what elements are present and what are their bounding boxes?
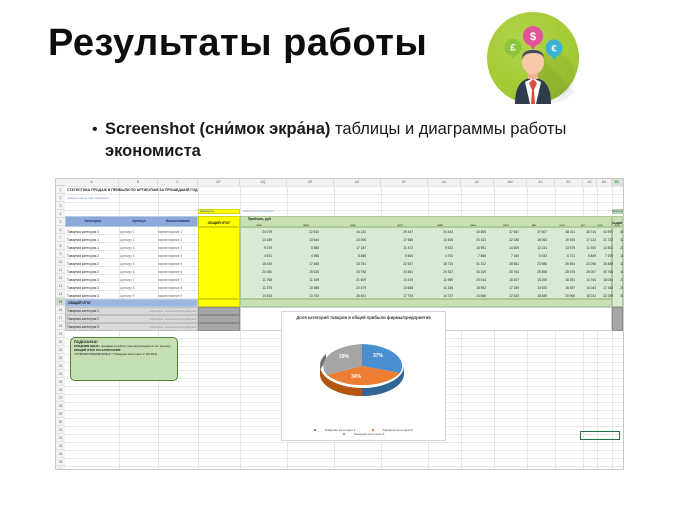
bullet-tail-bold: экономиста: [105, 142, 201, 160]
hint-formula: =СУММЕСЛИ($A$5:$A$14;"=Товарная категори…: [74, 352, 174, 356]
row-header-19[interactable]: 19: [56, 330, 65, 338]
cell-article-6[interactable]: Артикул 6: [120, 269, 154, 277]
column-header-au[interactable]: AU: [428, 179, 461, 186]
cell-value-r7-c1[interactable]: 11 768: [238, 277, 272, 285]
chart-title: Доля категорий товаров в общей прибыли ф…: [282, 315, 445, 320]
cell-name-3[interactable]: наименование 3: [158, 245, 196, 253]
row-header-4[interactable]: 4: [56, 210, 65, 218]
row-header-32[interactable]: 32: [56, 434, 65, 442]
column-header-as[interactable]: AS: [334, 179, 381, 186]
row-header-13[interactable]: 13: [56, 282, 65, 290]
row-header-29[interactable]: 29: [56, 410, 65, 418]
cell-value-r4-c12[interactable]: 10 760: [596, 253, 624, 261]
cell-value-r5-c2[interactable]: 17 465: [285, 261, 319, 269]
cell-value-r5-c6[interactable]: 31 312: [452, 261, 486, 269]
row-header-15[interactable]: 15: [56, 298, 65, 306]
row-header-23[interactable]: 23: [56, 362, 65, 370]
cell-value-r8-c2[interactable]: 10 588: [285, 285, 319, 293]
pie-label-2: 34%: [351, 374, 362, 380]
cell-name-9[interactable]: наименование 9: [158, 293, 196, 301]
cell-name-7[interactable]: наименование 7: [158, 277, 196, 285]
row-header-30[interactable]: 30: [56, 418, 65, 426]
cell-value-r9-c1[interactable]: 14 515: [238, 293, 272, 301]
note-formula-label-right: формула: [612, 208, 623, 216]
total-column-body: [198, 227, 240, 299]
row-header-8[interactable]: 8: [56, 242, 65, 250]
cell-value-r8-c12[interactable]: 25 664: [596, 285, 624, 293]
gridline-h: [65, 210, 623, 211]
cell-value-r2-c6[interactable]: 24 102: [452, 237, 486, 245]
cell-value-r7-c6[interactable]: 20 014: [452, 277, 486, 285]
header-category: Категория: [67, 218, 119, 226]
pie-chart[interactable]: Доля категорий товаров в общей прибыли ф…: [281, 311, 446, 441]
cell-name-8[interactable]: наименование 8: [158, 285, 196, 293]
cell-value-r7-c2[interactable]: 11 169: [285, 277, 319, 285]
row-header-3[interactable]: 3: [56, 202, 65, 210]
cell-category-8[interactable]: Товарная категория 3: [67, 285, 117, 293]
cell-category-4[interactable]: Товарная категория 2: [67, 253, 117, 261]
svg-text:£: £: [510, 43, 516, 54]
cell-value-r9-c3[interactable]: 26 601: [332, 293, 366, 301]
summary-hint-2: подсказка: считается формулой: [122, 316, 196, 324]
summary-label-2[interactable]: Товарная категория 2: [67, 316, 119, 324]
cell-value-r4-c5[interactable]: 4 792: [419, 253, 453, 261]
row-header-35[interactable]: 35: [56, 458, 65, 466]
row-header-17[interactable]: 17: [56, 314, 65, 322]
row-header-34[interactable]: 34: [56, 450, 65, 458]
bullet-marker: •: [92, 119, 98, 141]
cell-value-r2-c3[interactable]: 24 005: [332, 237, 366, 245]
cell-value-r8-c6[interactable]: 18 962: [452, 285, 486, 293]
cell-value-r8-c5[interactable]: 11 346: [419, 285, 453, 293]
row-header-6[interactable]: 6: [56, 226, 65, 234]
cell-name-1[interactable]: наименование 1: [158, 229, 196, 237]
cell-value-r5-c5[interactable]: 18 715: [419, 261, 453, 269]
column-header-c[interactable]: C: [158, 179, 198, 186]
cell-value-r1-c3[interactable]: 44 120: [332, 229, 366, 237]
row-header-26[interactable]: 26: [56, 386, 65, 394]
summary-label-3[interactable]: Товарная категория 3: [67, 324, 119, 332]
cell-article-1[interactable]: Артикул 1: [120, 229, 154, 237]
legend-swatch-3: [343, 433, 346, 436]
column-header-a[interactable]: A: [65, 179, 119, 186]
cell-value-r2-c4[interactable]: 17 555: [379, 237, 413, 245]
cell-value-r8-c1[interactable]: 11 375: [238, 285, 272, 293]
cell-value-r4-c4[interactable]: 5 664: [379, 253, 413, 261]
cell-value-r6-c3[interactable]: 34 796: [332, 269, 366, 277]
pie-label-3: 29%: [339, 354, 350, 360]
row-header-20[interactable]: 20: [56, 338, 65, 346]
cell-value-r2-c2[interactable]: 13 644: [285, 237, 319, 245]
sheet-subtitle: комментарии под таблицей: [67, 195, 267, 203]
column-header-aw[interactable]: AW: [494, 179, 527, 186]
summary-row-3-value: [198, 323, 240, 331]
column-header-b[interactable]: B: [119, 179, 158, 186]
cell-value-r1-c2[interactable]: 22 810: [285, 229, 319, 237]
cell-value-r7-c12[interactable]: 27 360: [596, 277, 624, 285]
cell-value-r4-c6[interactable]: 7 866: [452, 253, 486, 261]
active-cell-selection[interactable]: [580, 431, 620, 440]
row-header-22[interactable]: 22: [56, 354, 65, 362]
row-header-27[interactable]: 27: [56, 394, 65, 402]
cell-value-r3-c2[interactable]: 8 886: [285, 245, 319, 253]
cell-category-1[interactable]: Товарная категория 1: [67, 229, 117, 237]
column-header-at[interactable]: AT: [381, 179, 428, 186]
cell-name-2[interactable]: наименование 2: [158, 237, 196, 245]
cell-value-r8-c4[interactable]: 13 668: [379, 285, 413, 293]
bullet-paragraph: • Screenshot (сни́мок экра́на) таблицы и…: [92, 118, 622, 163]
sheet-title: СТАТИСТИКА ПРОДАЖ И ПРИБЫЛИ ПО АРТИКУЛАМ…: [67, 187, 387, 195]
cell-value-r6-c12[interactable]: 44 650: [596, 269, 624, 277]
column-header-ap[interactable]: AP: [198, 179, 240, 186]
cell-category-3[interactable]: Товарная категория 1: [67, 245, 117, 253]
cell-article-8[interactable]: Артикул 8: [120, 285, 154, 293]
row-header-10[interactable]: 10: [56, 258, 65, 266]
header-name: Наименование: [158, 218, 198, 226]
cell-value-r8-c3[interactable]: 20 479: [332, 285, 366, 293]
cell-value-r5-c12[interactable]: 42 829: [596, 261, 624, 269]
cell-category-2[interactable]: Товарная категория 1: [67, 237, 117, 245]
page-title: Результаты работы: [48, 22, 427, 65]
legend-swatch-1: [314, 429, 317, 432]
spreadsheet-screenshot: ABCAPAQARASATAUAVAWAXAYAZBABBBC 12345678…: [55, 178, 624, 470]
row-header-25[interactable]: 25: [56, 378, 65, 386]
cell-value-r3-c5[interactable]: 9 522: [419, 245, 453, 253]
gridline-h: [65, 450, 623, 451]
cell-value-r2-c12[interactable]: 32 968: [596, 237, 624, 245]
gridline-h: [65, 442, 623, 443]
row-header-11[interactable]: 11: [56, 266, 65, 274]
cell-value-r6-c5[interactable]: 20 367: [419, 269, 453, 277]
cell-value-r3-c6[interactable]: 15 951: [452, 245, 486, 253]
cell-value-r5-c3[interactable]: 33 781: [332, 261, 366, 269]
gridline-h: [65, 466, 623, 467]
row-header-24[interactable]: 24: [56, 370, 65, 378]
cell-value-r1-c4[interactable]: 29 447: [379, 229, 413, 237]
cell-value-r4-c3[interactable]: 8 486: [332, 253, 366, 261]
cell-value-r6-c1[interactable]: 20 080: [238, 269, 272, 277]
cell-value-r3-c4[interactable]: 11 472: [379, 245, 413, 253]
row-number-gutter: 1234567891011121314151617181920212223242…: [56, 186, 65, 469]
cell-value-r3-c3[interactable]: 17 187: [332, 245, 366, 253]
cell-value-r2-c5[interactable]: 14 406: [419, 237, 453, 245]
note-formula-label: формула: [200, 208, 240, 216]
row-header-31[interactable]: 31: [56, 426, 65, 434]
row-header-14[interactable]: 14: [56, 290, 65, 298]
summary-row-2-value: [198, 315, 240, 323]
hint-callout: ПОДСКАЗКА! СРЕДНЯЯ ЦЕНА: продажи в рубля…: [70, 337, 178, 381]
row-header-1[interactable]: 1: [56, 186, 65, 194]
cell-value-r6-c6[interactable]: 34 109: [452, 269, 486, 277]
cell-value-r1-c6[interactable]: 40 895: [452, 229, 486, 237]
cell-value-r1-c12[interactable]: 59 907: [596, 229, 624, 237]
cell-article-5[interactable]: Артикул 5: [120, 261, 154, 269]
cell-value-r7-c3[interactable]: 21 609: [332, 277, 366, 285]
cell-value-r9-c5[interactable]: 14 737: [419, 293, 453, 301]
cell-article-7[interactable]: Артикул 7: [120, 277, 154, 285]
summary-right-col: [612, 307, 623, 331]
svg-text:$: $: [530, 31, 536, 43]
cell-value-r3-c12[interactable]: 21 791: [596, 245, 624, 253]
cell-value-r7-c4[interactable]: 14 419: [379, 277, 413, 285]
column-header-ar[interactable]: AR: [287, 179, 334, 186]
column-header-ay[interactable]: AY: [555, 179, 583, 186]
row-header-5[interactable]: 5: [56, 218, 65, 226]
header-total: ОБЩИЙ ИТОГ: [199, 220, 239, 228]
header-article: Артикул: [120, 218, 158, 226]
pie-label-1: 37%: [373, 353, 384, 359]
cell-value-r1-c1[interactable]: 24 079: [238, 229, 272, 237]
grand-total-label: ОБЩИЙ ИТОГ: [68, 300, 148, 308]
slide-root: Результаты работы $ £ €: [0, 0, 677, 508]
cell-value-r5-c4[interactable]: 22 547: [379, 261, 413, 269]
note-manual-label: заполняется вручную: [243, 208, 333, 216]
column-header-av[interactable]: AV: [461, 179, 494, 186]
cell-value-r6-c4[interactable]: 24 561: [379, 269, 413, 277]
cell-category-6[interactable]: Товарная категория 2: [67, 269, 117, 277]
row-header-36[interactable]: 36: [56, 466, 65, 470]
cell-category-5[interactable]: Товарная категория 2: [67, 261, 117, 269]
pie-graphic: 37% 34% 29%: [314, 332, 410, 402]
svg-text:€: €: [551, 44, 557, 55]
cell-article-3[interactable]: Артикул 3: [120, 245, 154, 253]
cell-value-r7-c5[interactable]: 11 969: [419, 277, 453, 285]
legend-item-3: Товарная категория 3: [339, 432, 389, 436]
summary-hint-3: подсказка: считается формулой: [122, 324, 196, 332]
cell-value-r1-c5[interactable]: 24 443: [419, 229, 453, 237]
cell-value-r9-c4[interactable]: 17 754: [379, 293, 413, 301]
column-header-bc[interactable]: BC: [612, 179, 623, 186]
cell-value-r9-c6[interactable]: 24 656: [452, 293, 486, 301]
row-header-16[interactable]: 16: [56, 306, 65, 314]
total-column-grand: [198, 299, 240, 307]
cell-category-7[interactable]: Товарная категория 3: [67, 277, 117, 285]
summary-row-1-value: [198, 307, 240, 315]
row-header-2[interactable]: 2: [56, 194, 65, 202]
gridline-h: [65, 458, 623, 459]
economist-avatar-icon: $ £ €: [487, 12, 579, 104]
legend-label-3: Товарная категория 3: [353, 432, 384, 436]
column-header-ba[interactable]: BA: [597, 179, 612, 186]
cell-name-4[interactable]: наименование 4: [158, 253, 196, 261]
row-header-28[interactable]: 28: [56, 402, 65, 410]
row-header-33[interactable]: 33: [56, 442, 65, 450]
column-header-aq[interactable]: AQ: [240, 179, 287, 186]
cell-value-r5-c1[interactable]: 18 435: [238, 261, 272, 269]
row-header-21[interactable]: 21: [56, 346, 65, 354]
cell-article-4[interactable]: Артикул 4: [120, 253, 154, 261]
bullet-mid-text: таблицы и диаграммы работы: [330, 120, 566, 138]
column-header-az[interactable]: AZ: [583, 179, 597, 186]
cell-value-r9-c2[interactable]: 13 753: [285, 293, 319, 301]
row-header-12[interactable]: 12: [56, 274, 65, 282]
cell-name-5[interactable]: наименование 5: [158, 261, 196, 269]
bullet-lead-bold: Screenshot (сни́мок экра́на): [105, 120, 330, 138]
cell-value-r4-c2[interactable]: 4 988: [285, 253, 319, 261]
cell-value-r6-c2[interactable]: 19 025: [285, 269, 319, 277]
row-header-7[interactable]: 7: [56, 234, 65, 242]
column-header-ax[interactable]: AX: [527, 179, 555, 186]
cell-name-6[interactable]: наименование 6: [158, 269, 196, 277]
cell-value-r4-c1[interactable]: 4 631: [238, 253, 272, 261]
cell-article-2[interactable]: Артикул 2: [120, 237, 154, 245]
chart-legend: Товарная категория 1Товарная категория 2…: [282, 428, 445, 436]
cell-value-r9-c12[interactable]: 33 705: [596, 293, 624, 301]
row-header-9[interactable]: 9: [56, 250, 65, 258]
cell-value-r2-c1[interactable]: 14 189: [238, 237, 272, 245]
cell-value-r3-c1[interactable]: 9 379: [238, 245, 272, 253]
summary-label-1[interactable]: Товарная категория 1: [67, 308, 119, 316]
column-header-strip: ABCAPAQARASATAUAVAWAXAYAZBABBBC: [56, 179, 623, 186]
row-header-18[interactable]: 18: [56, 322, 65, 330]
summary-hint-1: подсказка: считается формулой: [122, 308, 196, 316]
